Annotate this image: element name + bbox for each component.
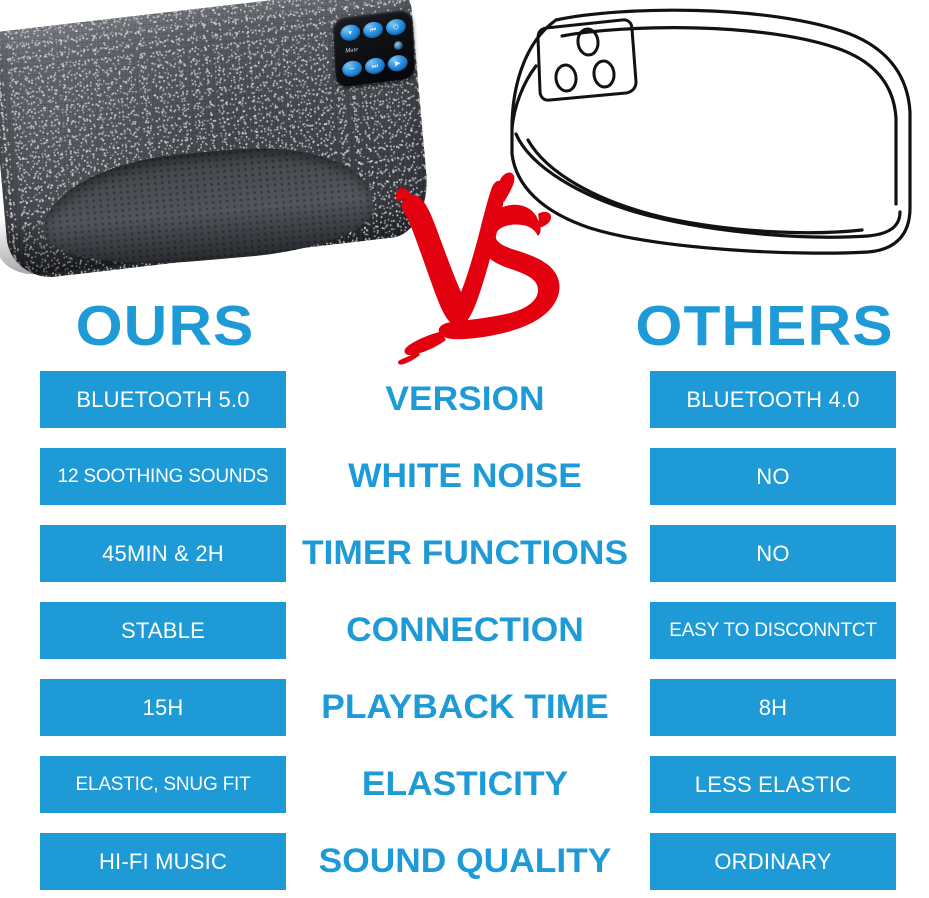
others-value-cell: NO <box>650 525 896 582</box>
table-row: ELASTIC, SNUG FITELASTICITYLESS ELASTIC <box>0 756 929 813</box>
ours-value-cell: BLUETOOTH 5.0 <box>40 371 286 428</box>
vs-graphic <box>388 168 568 368</box>
others-value-cell: ORDINARY <box>650 833 896 890</box>
table-row: 45MIN & 2HTIMER FUNCTIONSNO <box>0 525 929 582</box>
others-value-cell: BLUETOOTH 4.0 <box>650 371 896 428</box>
feature-label: PLAYBACK TIME <box>283 679 647 736</box>
table-row: STABLECONNECTIONEASY TO DISCONNTCT <box>0 602 929 659</box>
feature-label: TIMER FUNCTIONS <box>283 525 647 582</box>
others-value-cell: LESS ELASTIC <box>650 756 896 813</box>
comparison-infographic: ▾ ⏮ ⏻ Mute ─ ⏭ ▶ <box>0 0 929 898</box>
ours-value-cell: 45MIN & 2H <box>40 525 286 582</box>
volume-up-icon: ─ <box>342 60 363 78</box>
feature-label: CONNECTION <box>283 602 647 659</box>
feature-label: VERSION <box>283 371 647 428</box>
ours-value-cell: 15H <box>40 679 286 736</box>
next-track-icon: ⏭ <box>365 57 386 75</box>
ours-value-cell: HI-FI MUSIC <box>40 833 286 890</box>
power-icon: ⏻ <box>386 18 407 36</box>
previous-track-icon: ⏮ <box>363 21 384 39</box>
play-pause-icon: ▶ <box>387 54 408 72</box>
control-panel: ▾ ⏮ ⏻ Mute ─ ⏭ ▶ <box>332 9 415 88</box>
table-row: 15HPLAYBACK TIME8H <box>0 679 929 736</box>
ours-value-cell: ELASTIC, SNUG FIT <box>40 756 286 813</box>
volume-down-icon: ▾ <box>340 24 361 42</box>
mute-label: Mute <box>345 47 358 55</box>
others-value-cell: NO <box>650 448 896 505</box>
table-row: HI-FI MUSICSOUND QUALITYORDINARY <box>0 833 929 890</box>
others-value-cell: EASY TO DISCONNTCT <box>650 602 896 659</box>
module-button-3-icon <box>593 60 616 88</box>
ours-value-cell: STABLE <box>40 602 286 659</box>
ours-value-cell: 12 SOOTHING SOUNDS <box>40 448 286 505</box>
status-led-icon <box>394 40 403 50</box>
feature-label: ELASTICITY <box>283 756 647 813</box>
table-row: 12 SOOTHING SOUNDSWHITE NOISENO <box>0 448 929 505</box>
page-title-ours: OURS <box>0 296 340 356</box>
table-row: BLUETOOTH 5.0VERSIONBLUETOOTH 4.0 <box>0 371 929 428</box>
page-title-others: OTHERS <box>590 296 929 356</box>
product-hero-area: ▾ ⏮ ⏻ Mute ─ ⏭ ▶ <box>0 0 929 300</box>
others-value-cell: 8H <box>650 679 896 736</box>
feature-label: SOUND QUALITY <box>283 833 647 890</box>
ours-product-image: ▾ ⏮ ⏻ Mute ─ ⏭ ▶ <box>0 2 430 290</box>
vs-brush-mark <box>388 168 568 368</box>
comparison-table: BLUETOOTH 5.0VERSIONBLUETOOTH 4.012 SOOT… <box>0 371 929 898</box>
feature-label: WHITE NOISE <box>283 448 647 505</box>
module-button-2-icon <box>555 64 578 92</box>
